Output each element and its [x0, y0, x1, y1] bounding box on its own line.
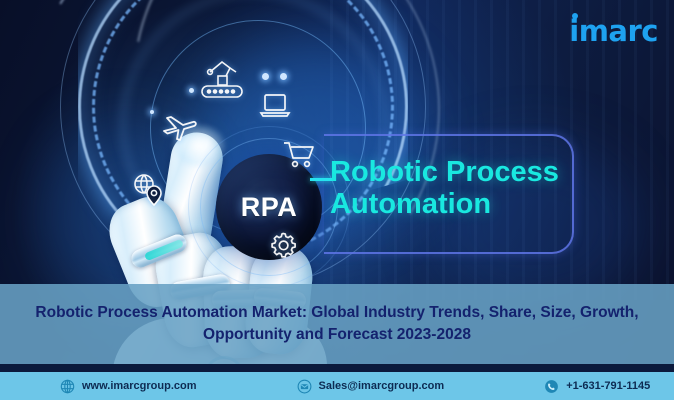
phone-icon: [544, 379, 559, 394]
footer-email-label: Sales@imarcgroup.com: [319, 380, 445, 392]
hero-title-line2: Automation: [330, 188, 590, 220]
laptop-icon: [258, 92, 292, 125]
report-cover-page: RPA: [0, 0, 674, 400]
footer-phone-label: +1-631-791-1145: [566, 380, 650, 392]
contact-footer: www.imarcgroup.com Sales@imarcgroup.com …: [0, 372, 674, 400]
report-title-banner: Robotic Process Automation Market: Globa…: [0, 284, 674, 364]
hero-title-line1: Robotic Process: [330, 156, 590, 188]
globe-icon: [60, 379, 75, 394]
envelope-icon: [297, 379, 312, 394]
decorative-dot: [150, 110, 154, 114]
rpa-label: RPA: [241, 192, 298, 223]
imarc-logo[interactable]: imarc: [569, 14, 658, 48]
footer-email[interactable]: Sales@imarcgroup.com: [297, 379, 445, 394]
report-title: Robotic Process Automation Market: Globa…: [22, 302, 652, 347]
robotic-arm-conveyor-icon: [196, 56, 248, 107]
location-pin-globe-icon: [132, 170, 166, 215]
airplane-icon: [160, 112, 200, 149]
shopping-cart-icon: [282, 140, 316, 175]
footer-top-strip: [0, 364, 674, 372]
footer-website[interactable]: www.imarcgroup.com: [60, 379, 197, 394]
footer-phone[interactable]: +1-631-791-1145: [544, 379, 650, 394]
logo-text: imarc: [569, 14, 658, 48]
decorative-dot: [262, 73, 269, 80]
hero-title: Robotic Process Automation: [330, 156, 590, 221]
footer-website-label: www.imarcgroup.com: [82, 380, 197, 392]
hero-title-dash: [310, 178, 332, 181]
gear-icon: [268, 230, 298, 265]
decorative-dot: [280, 73, 287, 80]
decorative-dot: [189, 88, 194, 93]
